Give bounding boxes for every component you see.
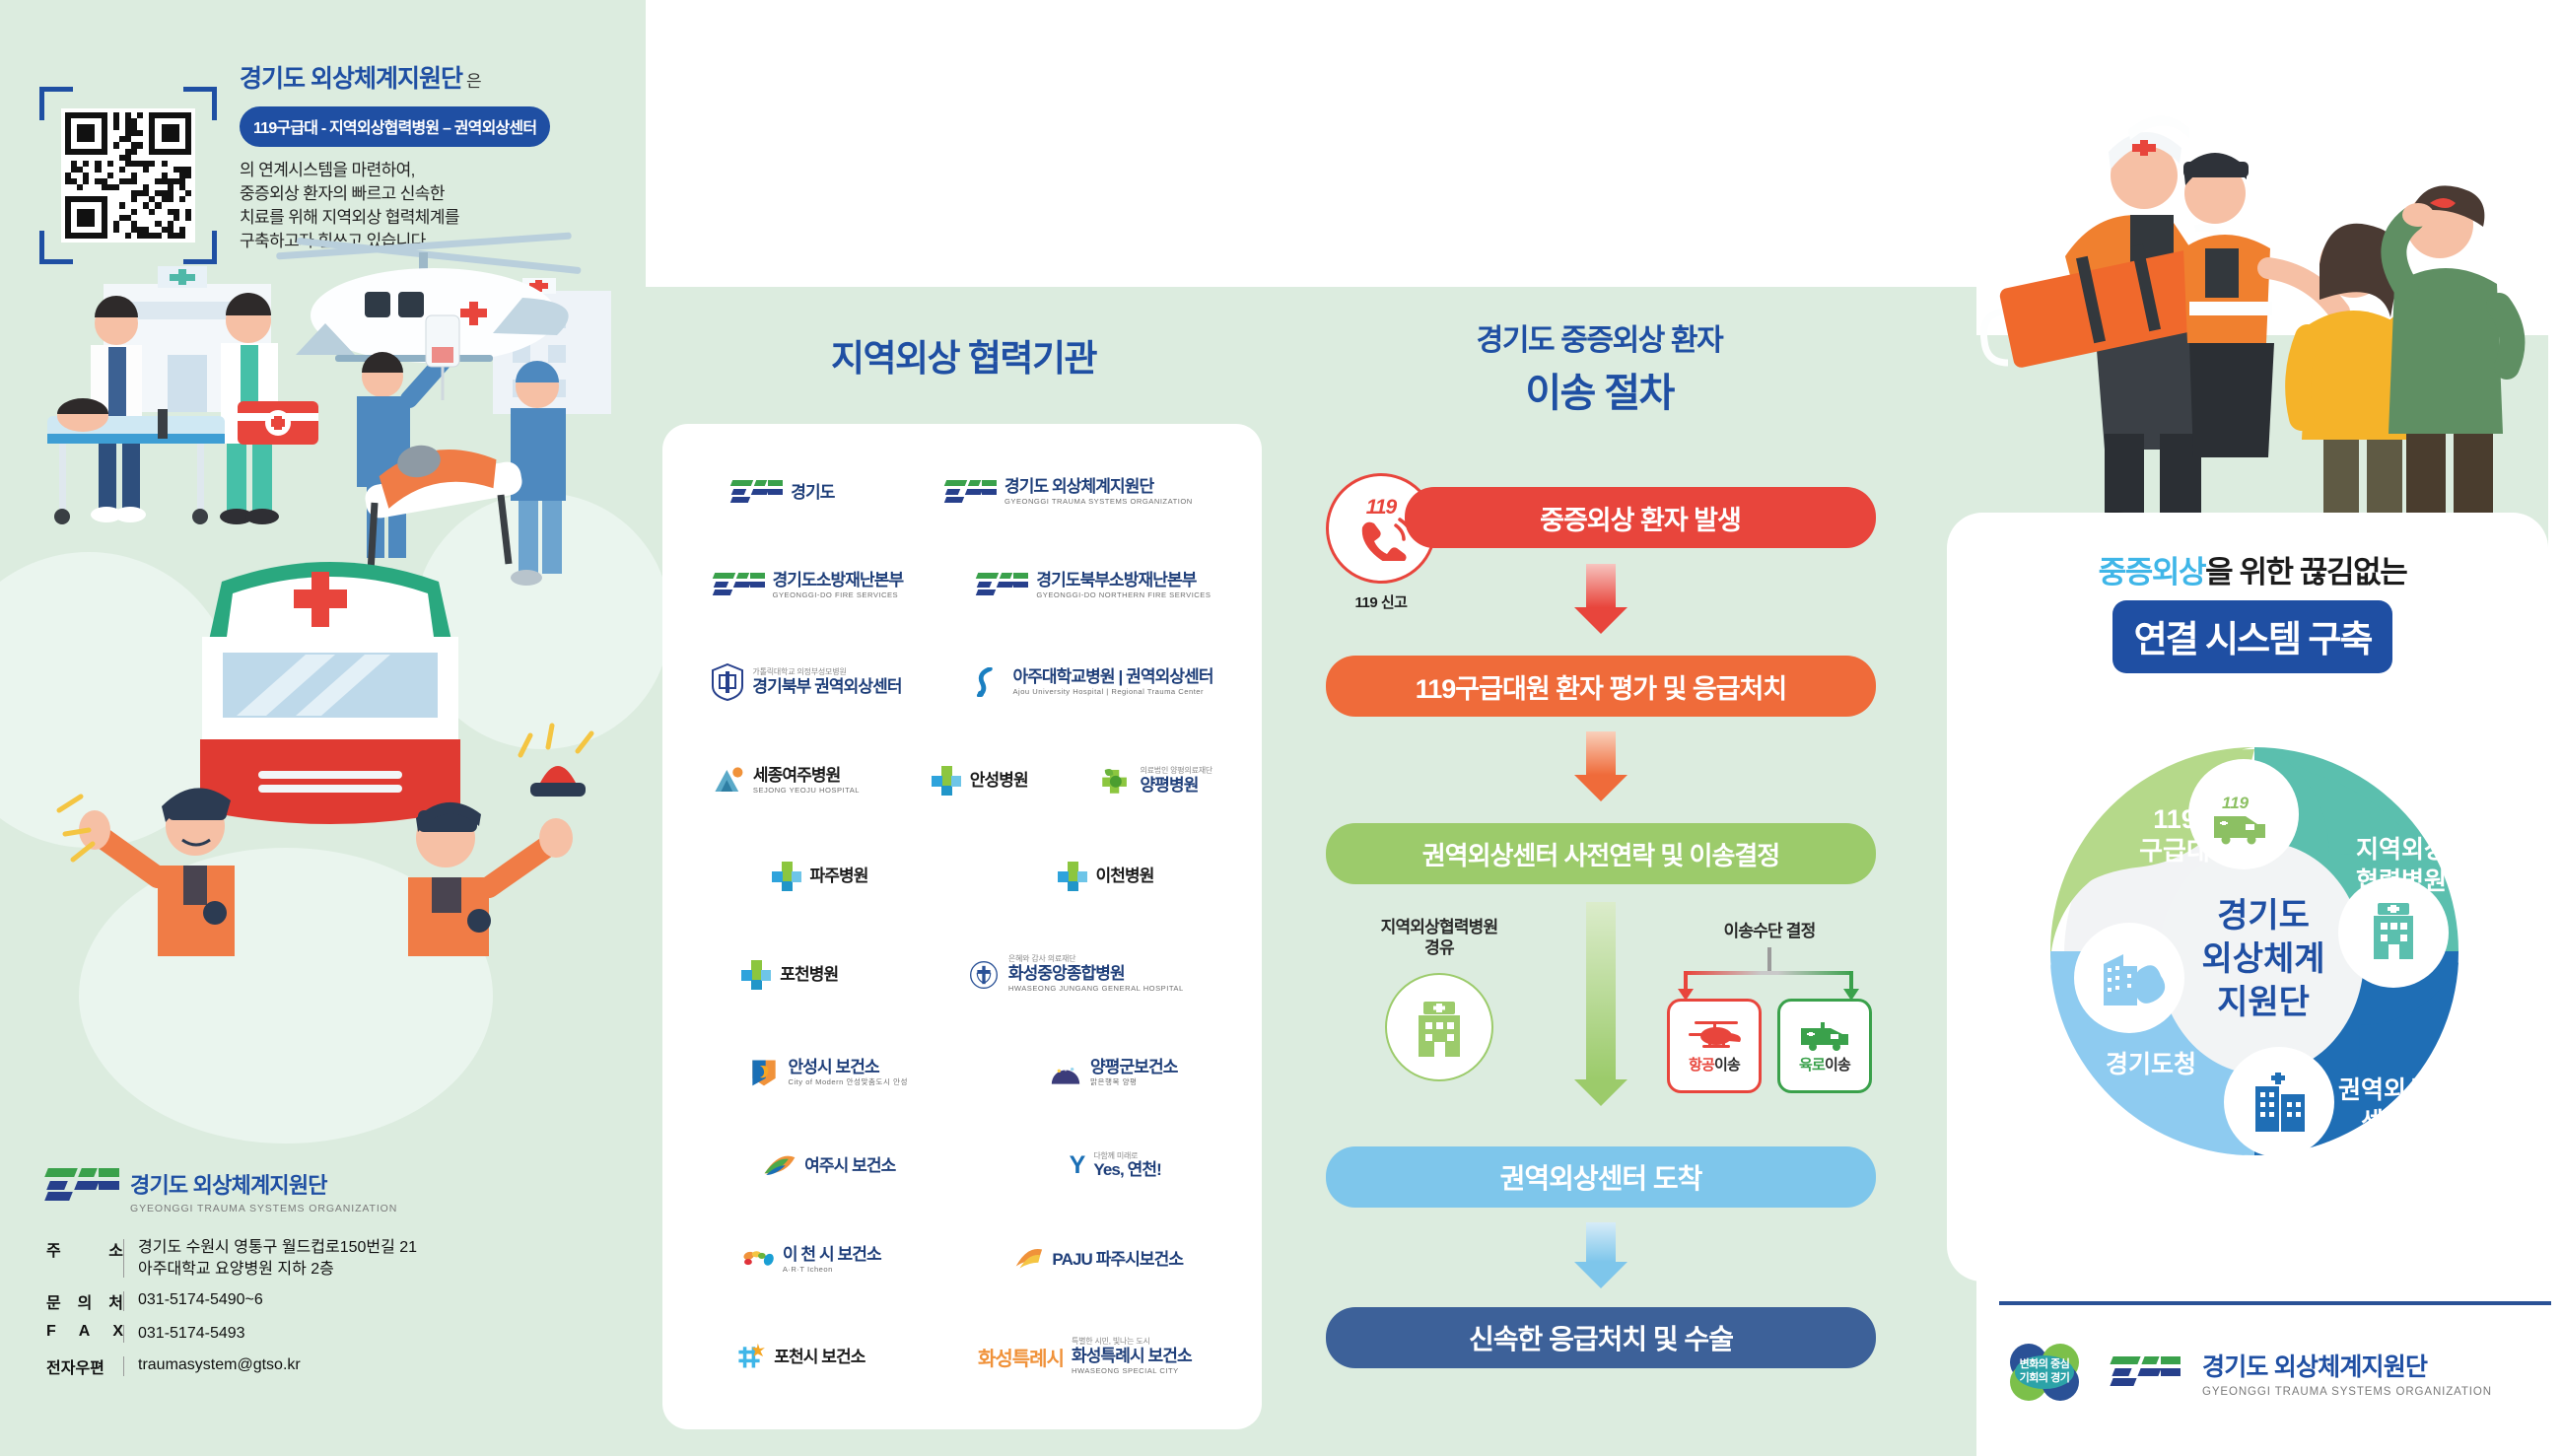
partner-sup: 특별한 시민, 빛나는 도시: [1072, 1338, 1192, 1347]
flow-step-3: 권역외상센터 사전연락 및 이송결정: [1326, 823, 1876, 884]
partner-logo: 이 천 시 보건소A·R·T Icheon: [741, 1244, 881, 1274]
local-hospital-caption-1: 지역외상협력병원: [1341, 917, 1538, 937]
partner-name-kr: 포천병원: [780, 965, 838, 984]
partner-sup: 가톨릭대학교 의정부성모병원: [752, 668, 901, 677]
partner-name-en: 맑은행복 양평: [1090, 1078, 1177, 1087]
partner-logo: PAJU 파주시보건소: [1010, 1244, 1183, 1274]
partner-logo: 세종여주병원SEJONG YEOJU HOSPITAL: [712, 766, 860, 796]
flow-step-2: 119구급대원 환자 평가 및 응급처치: [1326, 656, 1876, 717]
wheel-label-province: 경기도청: [2106, 1051, 2196, 1078]
transport-mode-branch: 이송수단 결정 항공이송: [1656, 917, 1883, 1093]
yeoju-city-icon: [763, 1151, 796, 1181]
contact-row: FAX031-5174-5493: [46, 1323, 417, 1345]
yeoncheon-yes-icon: Y: [1070, 1151, 1086, 1180]
ambulance-icon: [1797, 1018, 1852, 1052]
air-transport-label: 항공이송: [1689, 1054, 1740, 1075]
footer-org-name-en: GYEONGGI TRAUMA SYSTEMS ORGANIZATION: [2202, 1386, 2492, 1398]
medical-cross-icon: [1057, 861, 1088, 892]
partner-logo: 포천시 보건소: [732, 1342, 865, 1371]
partner-name-kr: 세종여주병원: [753, 766, 860, 785]
partner-logo: 여주시 보건소: [763, 1151, 895, 1181]
contact-label: 주소: [46, 1237, 123, 1261]
contact-label: FAX: [46, 1323, 123, 1341]
partner-name-en: GYEONGGI TRAUMA SYSTEMS ORGANIZATION: [1004, 498, 1193, 507]
gyeonggi-mark-icon: [46, 1168, 119, 1202]
contact-divider: [123, 1291, 124, 1311]
contact-value: 경기도 수원시 영통구 월드컵로150번길 21 아주대학교 요양병원 지하 2…: [138, 1237, 417, 1280]
wheel-label-119-line1: 119: [2153, 804, 2196, 834]
partner-logo: 포천병원: [740, 959, 838, 991]
contact-divider: [123, 1239, 124, 1278]
sejong-logo-icon: [712, 766, 745, 796]
contact-value: traumasystem@gtso.kr: [138, 1354, 301, 1376]
paju-city-icon: [1010, 1244, 1044, 1274]
partner-name-en: GYEONGGI-DO FIRE SERVICES: [773, 591, 904, 600]
flow-step-5: 신속한 응급처치 및 수술: [1326, 1307, 1876, 1368]
partner-row: 경기도소방재난본부GYEONGGI-DO FIRE SERVICES 경기도북부…: [676, 571, 1248, 600]
helicopter-icon: [1687, 1018, 1742, 1052]
partner-name-kr: 경기도 외상체계지원단: [1004, 477, 1193, 496]
ground-transport-label: 육로이송: [1799, 1054, 1850, 1075]
partner-name-kr: 양평군보건소: [1090, 1058, 1177, 1076]
partner-row: 세종여주병원SEJONG YEOJU HOSPITAL 안성병원 의료법인 양평…: [676, 765, 1248, 797]
gyeonggi-mark-icon: [945, 480, 997, 504]
emblem-line2: 기회의 경기: [2020, 1372, 2070, 1386]
partner-logo: 안성시 보건소City of Modern 안성맞춤도시 안성: [747, 1058, 909, 1087]
local-hospital-caption-2: 경유: [1341, 937, 1538, 958]
partners-card: 경기도 경기도 외상체계지원단GYEONGGI TRAUMA SYSTEMS O…: [662, 424, 1262, 1429]
org-name-kr: 경기도 외상체계지원단: [130, 1168, 397, 1200]
ground-transport-option: 육로이송: [1777, 999, 1872, 1093]
hospital-icon: [1385, 973, 1493, 1081]
wheel-label-partner-line1: 지역외상: [2356, 836, 2447, 864]
right-headline-line1: 중증외상을 위한 끊김없는: [1962, 547, 2543, 591]
gyeonggi-mark-icon: [2112, 1356, 2181, 1388]
partner-logo: 안성병원: [931, 765, 1028, 797]
yangpyeong-county-icon: [1049, 1058, 1082, 1087]
intro-title: 경기도 외상체계지원단은: [240, 59, 624, 95]
rescue-scene-illustration: [0, 207, 646, 956]
transport-mode-caption: 이송수단 결정: [1656, 917, 1883, 941]
partner-name-kr: 경기북부 권역외상센터: [752, 677, 901, 696]
hwaseong-hospital-icon: [967, 960, 1001, 990]
partner-name-kr: 안성시 보건소: [789, 1058, 909, 1076]
partner-logo: 의료법인 양평의료재단양평병원: [1098, 766, 1212, 796]
partner-logo: 양평군보건소맑은행복 양평: [1049, 1058, 1177, 1087]
right-headline: 중증외상을 위한 끊김없는 연결 시스템 구축: [1962, 547, 2543, 673]
wheel-label-partner-line2: 협력병원: [2356, 867, 2447, 895]
contact-divider: [123, 1356, 124, 1376]
flow-title-line2: 이송 절차: [1281, 361, 1917, 418]
flow-title-line1: 경기도 중증외상 환자: [1281, 315, 1917, 359]
branch-connector: [1656, 947, 1883, 995]
partner-name-kr: 경기도: [791, 483, 834, 502]
partner-name-kr: 화성중앙종합병원: [1008, 964, 1184, 983]
paramedics-scene-illustration: [1947, 10, 2548, 562]
partner-name-en: HWASEONG SPECIAL CITY: [1072, 1367, 1192, 1376]
footer-org-name-kr: 경기도 외상체계지원단: [2202, 1348, 2492, 1383]
partner-logo: 가톨릭대학교 의정부성모병원경기북부 권역외상센터: [711, 663, 901, 701]
partner-name-en: GYEONGGI-DO NORTHERN FIRE SERVICES: [1036, 591, 1211, 600]
svg-text:119: 119: [2222, 794, 2250, 812]
gyeonggi-emblem-icon: 변화의 중심 기회의 경기: [1999, 1341, 2090, 1404]
partner-name-kr: 경기도소방재난본부: [773, 571, 904, 589]
partner-name-kr: 이 천 시 보건소: [783, 1245, 881, 1264]
contact-divider: [123, 1325, 124, 1343]
wheel-label-119-line2: 구급대: [2139, 836, 2210, 866]
partner-sup: 의료법인 양평의료재단: [1140, 767, 1212, 776]
brochure-page: 경기도 외상체계지원단은 119구급대 - 지역외상협력병원 – 권역외상센터 …: [0, 0, 2562, 1456]
medical-cross-icon: [931, 765, 962, 797]
partner-logo: 경기도소방재난본부GYEONGGI-DO FIRE SERVICES: [714, 571, 904, 600]
wheel-label-trauma-line2: 센터: [2361, 1108, 2406, 1136]
wheel-label-trauma-line1: 권역외상: [2338, 1076, 2429, 1104]
gyeonggi-mark-icon: [731, 480, 783, 504]
partner-logo: 화성특례시특별한 시민, 빛나는 도시화성특례시 보건소HWASEONG SPE…: [978, 1338, 1192, 1375]
partner-logo: 은혜와 감사 의료재단화성중앙종합병원HWASEONG JUNGANG GENE…: [967, 955, 1184, 993]
contact-list: 주소경기도 수원시 영통구 월드컵로150번길 21 아주대학교 요양병원 지하…: [46, 1237, 417, 1388]
partner-row: 가톨릭대학교 의정부성모병원경기북부 권역외상센터 아주대학교병원 | 권역외상…: [676, 663, 1248, 701]
partner-logo: 경기도북부소방재난본부GYEONGGI-DO NORTHERN FIRE SER…: [977, 571, 1211, 600]
contact-label: 문의처: [46, 1289, 123, 1313]
partner-name-kr: 파주병원: [810, 867, 868, 885]
catholic-shield-icon: [711, 663, 744, 701]
medical-cross-icon: [771, 861, 802, 892]
partner-name-kr: 안성병원: [970, 771, 1028, 790]
partner-logo: Y다함께 미래로Yes, 연천!: [1070, 1151, 1161, 1180]
contact-value: 031-5174-5493: [138, 1323, 245, 1345]
partner-name-en: Ajou University Hospital | Regional Trau…: [1012, 688, 1212, 697]
partner-name-en: HWASEONG JUNGANG GENERAL HOSPITAL: [1008, 985, 1184, 994]
partner-logo: 파주병원: [771, 861, 868, 892]
flow-arrow-1: [1574, 564, 1627, 634]
wheel-center-line1: 경기도: [2217, 897, 2310, 935]
partner-name-kr: Yes, 연천!: [1093, 1160, 1161, 1179]
flow-step-4: 권역외상센터 도착: [1326, 1146, 1876, 1208]
partner-logo: 경기도: [731, 480, 834, 504]
contact-row: 전자우편traumasystem@gtso.kr: [46, 1354, 417, 1378]
wheel-center-line2: 외상체계: [2201, 940, 2324, 978]
medical-cross-icon: [740, 959, 772, 991]
footer-divider: [1999, 1301, 2551, 1305]
wheel-center-line3: 지원단: [2217, 984, 2310, 1021]
partner-name-kr: 화성특례시 보건소: [1072, 1347, 1192, 1365]
pocheon-city-icon: [732, 1342, 766, 1371]
yangpyeong-hospital-icon: [1098, 766, 1132, 796]
badge-119-text: 119: [1366, 497, 1396, 518]
partner-row: 포천시 보건소화성특례시특별한 시민, 빛나는 도시화성특례시 보건소HWASE…: [676, 1338, 1248, 1375]
contact-row: 문의처031-5174-5490~6: [46, 1289, 417, 1313]
organization-logo: 경기도 외상체계지원단 GYEONGGI TRAUMA SYSTEMS ORGA…: [46, 1168, 397, 1214]
partner-row: 이 천 시 보건소A·R·T Icheon PAJU 파주시보건소: [676, 1244, 1248, 1274]
partner-logo: 경기도 외상체계지원단GYEONGGI TRAUMA SYSTEMS ORGAN…: [945, 477, 1193, 507]
partner-name-kr: 양평병원: [1140, 776, 1212, 795]
partner-name-en: City of Modern 안성맞춤도시 안성: [789, 1078, 909, 1087]
connection-system-wheel: 119: [2033, 729, 2476, 1173]
partner-name-kr: 이천병원: [1096, 867, 1154, 885]
phone-ringing-icon: [1354, 518, 1408, 561]
partner-name-kr: 여주시 보건소: [804, 1156, 895, 1175]
partner-name-kr: 포천시 보건소: [774, 1348, 865, 1366]
ajou-logo-icon: [971, 667, 1004, 697]
contact-label: 전자우편: [46, 1354, 123, 1378]
partner-row: 안성시 보건소City of Modern 안성맞춤도시 안성 양평군보건소맑은…: [676, 1058, 1248, 1087]
call-caption: 119 신고: [1326, 591, 1436, 612]
partner-row: 여주시 보건소Y다함께 미래로Yes, 연천!: [676, 1151, 1248, 1181]
flow-arrow-4: [1574, 1222, 1627, 1288]
partner-name-kr: PAJU 파주시보건소: [1052, 1250, 1183, 1269]
partner-logo: 아주대학교병원 | 권역외상센터Ajou University Hospital…: [971, 667, 1212, 697]
contact-value: 031-5174-5490~6: [138, 1289, 263, 1311]
flow-arrow-2: [1574, 731, 1627, 801]
partners-title: 지역외상 협력기관: [646, 328, 1281, 381]
partner-logo: 이천병원: [1057, 861, 1154, 892]
gyeonggi-mark-icon: [714, 573, 765, 596]
partner-sup: 다함께 미래로: [1093, 1152, 1161, 1161]
partner-name-kr: 아주대학교병원 | 권역외상센터: [1012, 667, 1212, 686]
org-name-en: GYEONGGI TRAUMA SYSTEMS ORGANIZATION: [130, 1203, 397, 1214]
contact-row: 주소경기도 수원시 영통구 월드컵로150번길 21 아주대학교 요양병원 지하…: [46, 1237, 417, 1280]
air-transport-option: 항공이송: [1667, 999, 1762, 1093]
partner-name-en: A·R·T Icheon: [783, 1266, 881, 1275]
gyeonggi-mark-icon: [977, 573, 1028, 596]
partner-row: 경기도 경기도 외상체계지원단GYEONGGI TRAUMA SYSTEMS O…: [676, 477, 1248, 507]
icheon-city-icon: [741, 1244, 775, 1274]
right-headline-pill: 연결 시스템 구축: [2112, 600, 2393, 673]
anseong-city-icon: [747, 1058, 781, 1087]
flow-arrow-3: [1574, 902, 1627, 1106]
emblem-line1: 변화의 중심: [2020, 1358, 2070, 1372]
hwaseong-city-icon: 화성특례시: [978, 1343, 1064, 1371]
partner-row: 파주병원 이천병원: [676, 861, 1248, 892]
partner-name-en: SEJONG YEOJU HOSPITAL: [753, 787, 860, 796]
right-footer-logos: 변화의 중심 기회의 경기 경기도 외상체계지원단 GYEONGGI TRAUM…: [1999, 1341, 2492, 1404]
intro-chain-pill: 119구급대 - 지역외상협력병원 – 권역외상센터: [240, 106, 550, 147]
partner-name-kr: 경기도북부소방재난본부: [1036, 571, 1211, 589]
local-hospital-branch: 지역외상협력병원 경유: [1341, 917, 1538, 1081]
partner-row: 포천병원 은혜와 감사 의료재단화성중앙종합병원HWASEONG JUNGANG…: [676, 955, 1248, 993]
flow-step-1: 중증외상 환자 발생: [1405, 487, 1876, 548]
flow-title: 경기도 중증외상 환자 이송 절차: [1281, 315, 1917, 418]
